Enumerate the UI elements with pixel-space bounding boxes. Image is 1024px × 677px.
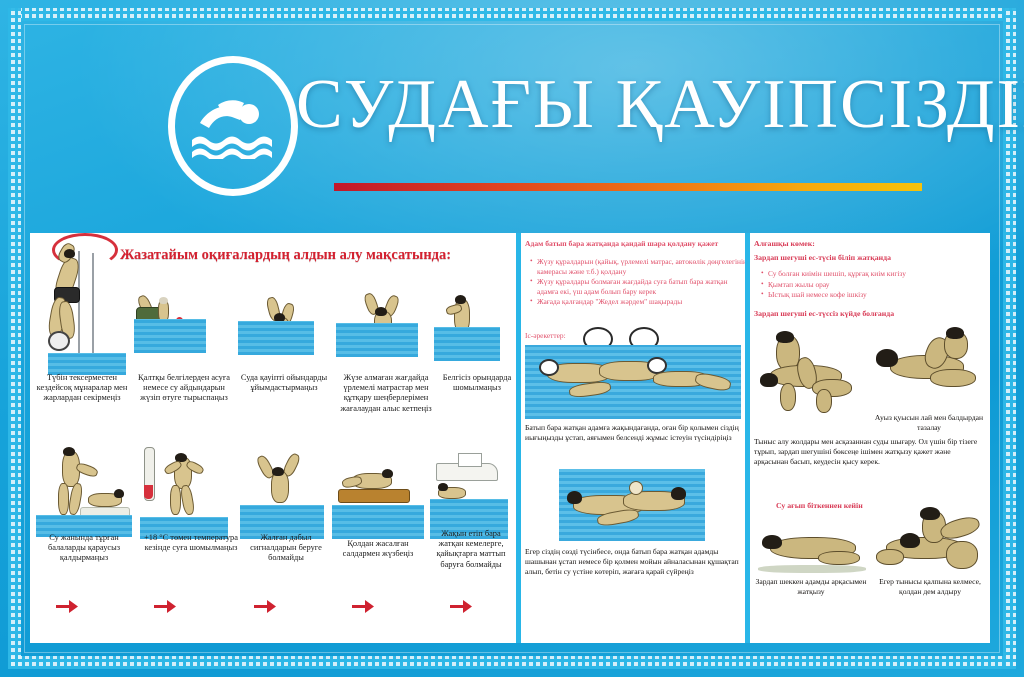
rescue-bullets: Жүзу құралдарын (қайық, үрлемелі матрас,… [525, 257, 745, 308]
cell-picture [434, 291, 500, 361]
rescue-heading: Адам батып бара жатқанда қандай шара қол… [525, 239, 743, 249]
content-panel: Жазатайым оқиғалардың алдын алу мақсатын… [30, 233, 990, 643]
title-underline-rule [334, 183, 922, 191]
rescue-text-1: Батып бара жатқан адамға жақындағанда, о… [525, 423, 741, 443]
first-aid-sub-unconscious: Зардап шегуші ес-түссіз күйде болғанда [754, 309, 986, 319]
prevention-caption: Қалтқы белгілерден асуға немесе су айдын… [134, 373, 234, 404]
mouth-clean-illustration [870, 325, 982, 403]
first-aid-column: Алғашқы көмек: Зардап шегуші ес-түсін бі… [750, 233, 990, 643]
list-item: Жүзу құралдары болмаған жағдайда суға ба… [532, 277, 745, 296]
first-aid-caption-mouth: Ауыз қуысын лай мен балдырдан тазалау [874, 413, 984, 432]
prevention-caption: Қолдан жасалған салдармен жүзбеңіз [332, 539, 424, 559]
cell-picture [332, 445, 424, 539]
prevention-caption: Белгісіз орындарда шомылмаңыз [440, 373, 514, 393]
rescue-illustration-2 [559, 469, 705, 541]
cell-picture [240, 445, 324, 539]
arrow-icon [56, 599, 78, 614]
arrow-icon [450, 599, 472, 614]
ornament-border-bottom [8, 656, 1016, 669]
cell-picture [430, 445, 508, 539]
list-item: Ыстық шай немесе кофе ішкізу [763, 290, 990, 300]
cell-picture [140, 445, 228, 539]
first-aid-caption-breathing: Егер тынысы қалпына келмесе, қолдан дем … [872, 577, 988, 596]
prevention-caption: +18 °C төмен температура кезінде суға шо… [140, 533, 242, 553]
swimmer-icon [168, 56, 298, 196]
prevention-column: Жазатайым оқиғалардың алдын алу мақсатын… [30, 233, 516, 643]
list-item: Жағада қалғандар "Жедел жәрдем" шақырады [532, 297, 745, 307]
page-title: СУДАҒЫ ҚАУІПСІЗДІК [296, 66, 996, 144]
rescue-text-2: Егер сіздің сөзді түсінбесе, онда батып … [525, 547, 741, 577]
rescue-illustration-1 [525, 345, 741, 419]
lying-on-back-illustration [758, 515, 866, 577]
cell-picture [134, 291, 206, 353]
prevention-caption: Жақын етіп бара жатқан кемелерге, қайықт… [428, 529, 514, 570]
arrow-icon [352, 599, 374, 614]
first-aid-caption-back: Зардап шеккен адамды арқасымен жатқызу [752, 577, 870, 596]
prevention-caption: Жүзе алмаған жағдайда үрлемелі матрастар… [334, 373, 438, 414]
prevention-caption: Суда қауіпті ойындарды ұйымдастырмаңыз [236, 373, 332, 393]
rescue-breathing-illustration [870, 507, 986, 579]
list-item: Су болған киімін шешіп, құрғақ киім кигі… [763, 269, 990, 279]
prevention-heading: Жазатайым оқиғалардың алдын алу мақсатын… [120, 247, 510, 264]
first-aid-heading: Алғашқы көмек: [754, 239, 815, 249]
actions-label: Іс-әрекеттер: [525, 331, 566, 341]
poster-header: СУДАҒЫ ҚАУІПСІЗДІК [0, 38, 1024, 188]
list-item: Жүзу құралдарын (қайық, үрлемелі матрас,… [532, 257, 745, 276]
first-aid-sub-after-water: Су ағып біткеннен кейін [776, 501, 863, 511]
water-drainage-illustration [754, 329, 866, 417]
list-item: Қымтап жылы орау [763, 280, 990, 290]
arrow-icon [254, 599, 276, 614]
prevention-caption: Су жанында тұрған балаларды қараусыз қал… [32, 533, 136, 564]
prevention-caption: Түбін тексерместен кездейсоқ мұнаралар м… [30, 373, 134, 404]
arrow-icon [154, 599, 176, 614]
cell-picture [336, 291, 418, 357]
rescue-column: Адам батып бара жатқанда қандай шара қол… [521, 233, 745, 643]
first-aid-bullets-conscious: Су болған киімін шешіп, құрғақ киім кигі… [756, 269, 990, 301]
first-aid-text-drainage: Тыныс алу жолдары мен асқазаннан суды шы… [754, 437, 986, 467]
poster-root: СУДАҒЫ ҚАУІПСІЗДІК Жазатайым оқиғалар [0, 0, 1024, 677]
prevention-caption: Жалған дабыл сигналдарын беруге болмайды [244, 533, 328, 564]
first-aid-sub-conscious: Зардап шегуші ес-түсін біліп жатқанда [754, 253, 986, 263]
cell-picture [238, 291, 314, 355]
ornament-border-top [8, 8, 1016, 21]
cell-picture [36, 445, 132, 537]
